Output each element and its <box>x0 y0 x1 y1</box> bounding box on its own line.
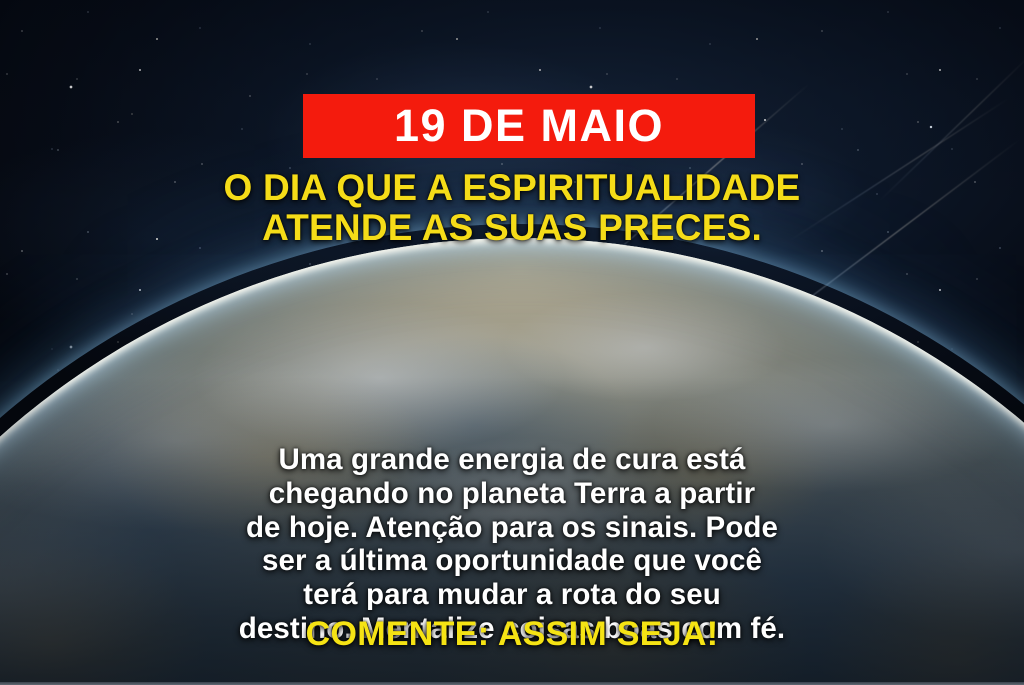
call-to-action-text: COMENTE: ASSIM SEJA! <box>0 617 1024 651</box>
date-banner: 19 DE MAIO <box>303 94 755 158</box>
headline: O DIA QUE A ESPIRITUALIDADE ATENDE AS SU… <box>50 168 974 249</box>
poster-canvas: 19 DE MAIO O DIA QUE A ESPIRITUALIDADE A… <box>0 0 1024 685</box>
poster-content: 19 DE MAIO O DIA QUE A ESPIRITUALIDADE A… <box>0 0 1024 685</box>
date-banner-label: 19 DE MAIO <box>394 103 664 148</box>
